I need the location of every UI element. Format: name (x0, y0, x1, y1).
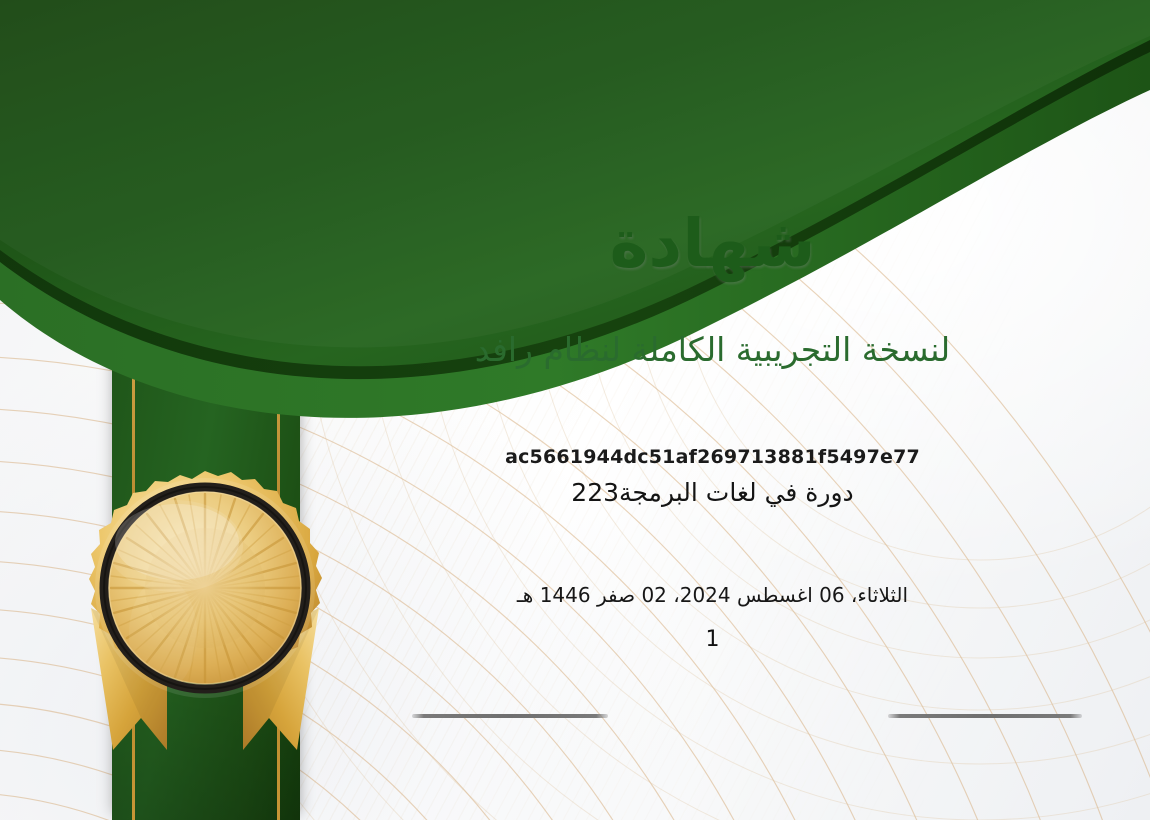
certificate-subtitle: لنسخة التجريبية الكاملة لنظام رافد (330, 330, 1095, 369)
signature-line-left (412, 714, 608, 718)
page-number: 1 (330, 627, 1095, 652)
verification-hash: ac5661944dc51af269713881f5497e77 (330, 446, 1095, 468)
certificate-canvas: شهادة لنسخة التجريبية الكاملة لنظام رافد… (0, 0, 1150, 820)
course-name: دورة في لغات البرمجة223 (330, 478, 1095, 507)
signature-line-right (888, 714, 1082, 718)
certificate-content: شهادة لنسخة التجريبية الكاملة لنظام رافد… (330, 0, 1150, 820)
certificate-title: شهادة (330, 205, 1095, 282)
gold-medal-seal (55, 450, 355, 780)
issue-date: الثلاثاء، 06 اغسطس 2024، 02 صفر 1446 هـ (330, 583, 1095, 607)
medal-highlight (115, 504, 239, 580)
